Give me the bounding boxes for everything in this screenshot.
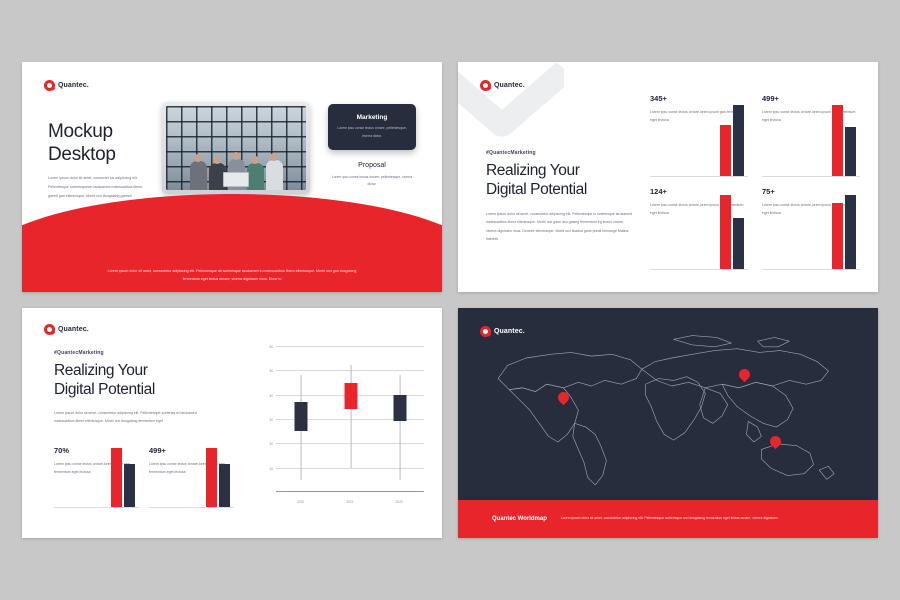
bar-dark — [733, 105, 744, 176]
stat-bar-chart — [111, 446, 135, 507]
pin-russia-icon[interactable] — [739, 369, 750, 384]
page-title-line2: Digital Potential — [486, 180, 634, 199]
proposal-block: Proposal Lorem ipsu conse lectus ornare,… — [328, 162, 416, 188]
quantec-circle-logo-icon — [480, 80, 491, 91]
quantec-circle-logo-icon — [44, 324, 55, 335]
x-axis-tick-label: 2020 — [297, 500, 304, 504]
logo: Quantec. — [44, 80, 89, 91]
bar-red — [832, 203, 843, 269]
candlestick-body — [295, 402, 308, 431]
worldmap-footer: Quantec Worldmap Lorem ipsum dolor sit a… — [458, 500, 878, 538]
y-axis-tick-label: 60 — [269, 345, 273, 349]
stat-card: 499+ Lorem ipsu conse lectus ornare,lore… — [149, 446, 234, 508]
marketing-card-title: Marketing — [357, 114, 388, 121]
page-title-line2: Desktop — [48, 143, 116, 166]
footer-body: Lorem ipsum dolor sit amet, consectetur … — [561, 516, 778, 521]
page-title-line2: Digital Potential — [54, 380, 216, 399]
logo: Quantec. — [44, 324, 89, 335]
logo-text: Quantec. — [58, 326, 89, 333]
candlestick — [350, 346, 351, 492]
bar-red — [720, 195, 731, 269]
y-axis-tick-label: 50 — [269, 369, 273, 373]
slide-mockup-desktop[interactable]: Quantec. Mockup Desktop Lorem ipsum dolo… — [22, 62, 442, 292]
slide-2-text-column: #QuantecMarketing Realizing Your Digital… — [486, 150, 634, 244]
body-paragraph: Lorem ipsum dolor sit amet, consectetur … — [54, 409, 216, 426]
monitor-bezel — [162, 102, 310, 194]
page-title-line1: Realizing Your — [54, 361, 216, 380]
stat-card: 499+ Lorem ipsu conse lectus ornare,lore… — [762, 94, 860, 177]
y-axis-tick-label: 40 — [269, 394, 273, 398]
candlestick — [399, 346, 400, 492]
bar-dark — [845, 195, 856, 269]
logo: Quantec. — [480, 80, 525, 91]
hashtag: #QuantecMarketing — [486, 150, 634, 156]
stat-bar-chart — [832, 187, 856, 269]
logo-text: Quantec. — [58, 82, 89, 89]
candlestick — [301, 346, 302, 492]
map-continents — [498, 336, 834, 485]
bar-dark — [733, 218, 744, 269]
stats-row: 70% Lorem ipsu conse lectus ornare,lorem… — [54, 446, 234, 508]
bar-dark — [124, 464, 135, 507]
proposal-body: Lorem ipsu conse lectus ornare, pellente… — [328, 174, 416, 188]
monitor-screen — [166, 106, 306, 190]
bar-red — [206, 448, 217, 507]
bar-red — [111, 448, 122, 507]
stat-card: 124+ Lorem ipsu conse lectus ornare,lore… — [650, 187, 748, 270]
body-paragraph: Lorem ipsum dolor sit amet, consectetur … — [486, 210, 634, 244]
y-axis-tick-label: 20 — [269, 442, 273, 446]
pin-north-america-icon[interactable] — [558, 392, 569, 407]
slide-deck-preview: Quantec. Mockup Desktop Lorem ipsum dolo… — [0, 0, 900, 600]
bar-dark — [219, 464, 230, 507]
slide-realizing-chart[interactable]: Quantec. #QuantecMarketing Realizing You… — [22, 308, 442, 538]
y-axis-tick-label: 10 — [269, 467, 273, 471]
page-title: Realizing Your Digital Potential — [486, 161, 634, 200]
candlestick-wick — [399, 375, 400, 480]
page-title: Realizing Your Digital Potential — [54, 361, 216, 400]
x-axis-tick-label: 2022 — [396, 500, 403, 504]
stat-card: 70% Lorem ipsu conse lectus ornare,lorem… — [54, 446, 139, 508]
checkmark-watermark-icon — [458, 62, 564, 148]
stats-grid: 345+ Lorem ipsu conse lectus ornare,lore… — [650, 94, 860, 270]
footer-title: Quantec Worldmap — [492, 516, 547, 522]
team-photo — [166, 106, 306, 190]
bar-dark — [845, 127, 856, 176]
stat-bar-chart — [206, 446, 230, 507]
bar-red — [832, 105, 843, 176]
stat-card: 345+ Lorem ipsu conse lectus ornare,lore… — [650, 94, 748, 177]
marketing-card[interactable]: Marketing Lorem ipsu conse lectus ornare… — [328, 104, 416, 150]
hashtag: #QuantecMarketing — [54, 350, 216, 356]
y-axis-tick-label: 30 — [269, 418, 273, 422]
person — [190, 161, 207, 190]
page-title-line1: Mockup — [48, 120, 116, 143]
person — [266, 160, 283, 190]
stat-card: 75+ Lorem ipsu conse lectus ornare,lorem… — [762, 187, 860, 270]
proposal-title: Proposal — [328, 162, 416, 169]
candlestick-body — [393, 395, 406, 422]
intro-paragraph: Lorem ipsum dolor sit amet, consectet lu… — [48, 174, 148, 201]
marketing-card-body: Lorem ipsu conse lectus ornare, pellente… — [335, 125, 409, 139]
stat-bar-chart — [720, 94, 744, 176]
page-title: Mockup Desktop — [48, 120, 116, 166]
person — [247, 163, 264, 190]
slide-realizing-stats[interactable]: Quantec. #QuantecMarketing Realizing You… — [458, 62, 878, 292]
x-axis-tick-label: 2021 — [346, 500, 353, 504]
candlestick-wick — [350, 365, 351, 467]
slide-3-text-column: #QuantecMarketing Realizing Your Digital… — [54, 350, 216, 426]
world-map[interactable] — [472, 330, 864, 498]
candlestick-body — [344, 383, 357, 410]
candlestick-chart: 605040302010 202020212022 — [260, 346, 424, 508]
quantec-circle-logo-icon — [44, 80, 55, 91]
page-title-line1: Realizing Your — [486, 161, 634, 180]
pin-southeast-asia-icon[interactable] — [770, 436, 781, 451]
stat-bar-chart — [720, 187, 744, 269]
bar-red — [720, 125, 731, 176]
stat-bar-chart — [832, 94, 856, 176]
arc-caption: Lorem ipsum dolor sit amet, consectetur … — [107, 267, 357, 284]
logo-text: Quantec. — [494, 82, 525, 89]
laptop-icon — [223, 172, 249, 187]
slide-worldmap[interactable]: Quantec. — [458, 308, 878, 538]
